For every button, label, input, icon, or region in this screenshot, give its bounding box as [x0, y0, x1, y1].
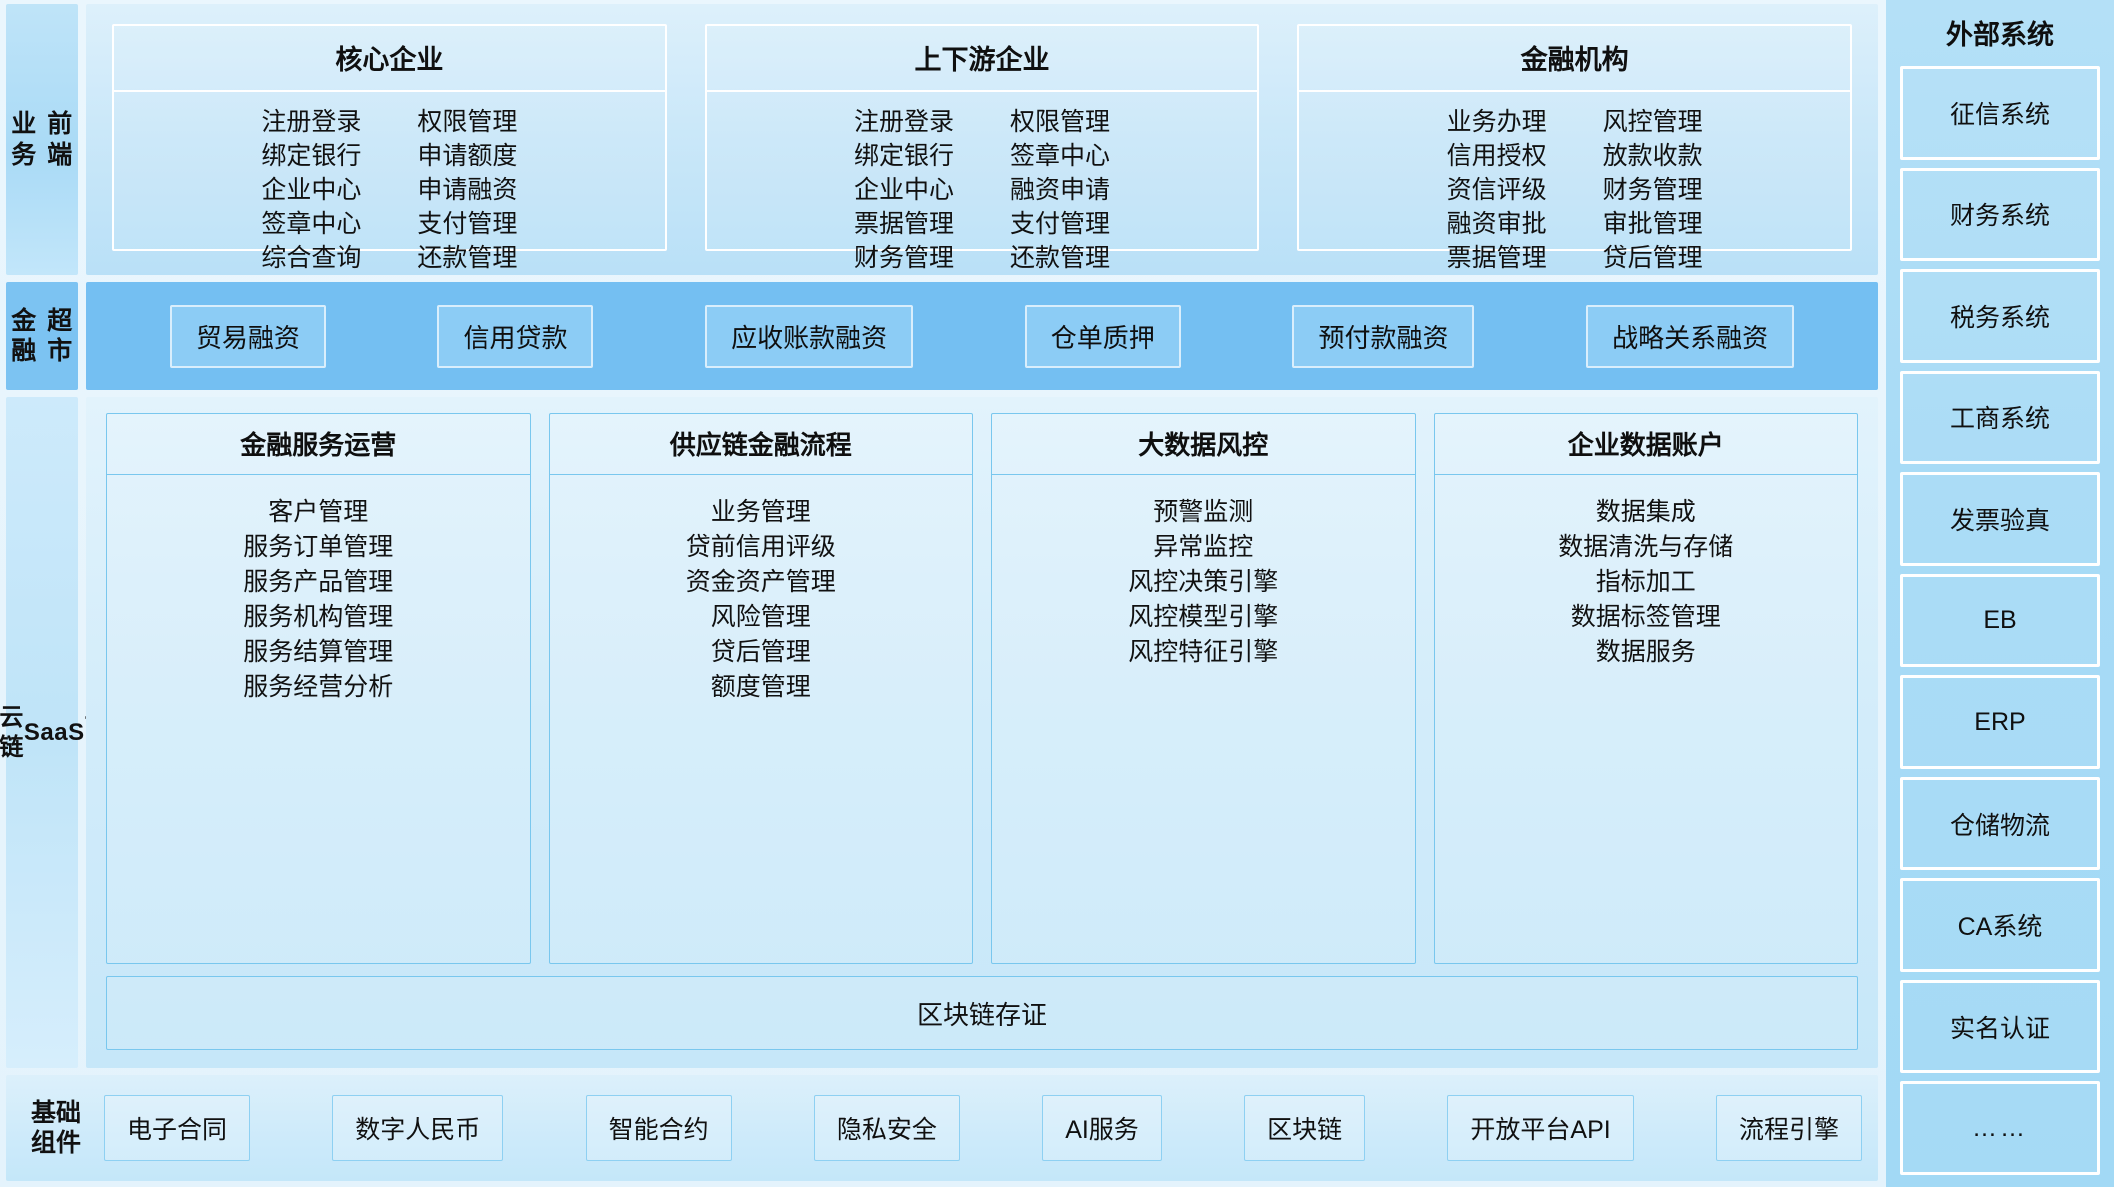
front-card-title: 上下游企业	[707, 26, 1258, 92]
feature-item: 服务产品管理	[243, 565, 393, 599]
feature-item: 贷后管理	[711, 635, 811, 669]
front-card-title: 核心企业	[114, 26, 665, 92]
front-card-body: 业务办理信用授权资信评级融资审批票据管理 风控管理放款收款财务管理审批管理贷后管…	[1299, 92, 1850, 285]
label-line: 超市	[42, 306, 78, 367]
market-chip[interactable]: 战略关系融资	[1586, 305, 1794, 368]
feature-item: 还款管理	[417, 242, 517, 275]
feature-item: 业务管理	[711, 495, 811, 529]
feature-item: 放款收款	[1603, 140, 1703, 173]
base-component-chip[interactable]: 智能合约	[586, 1095, 732, 1161]
feature-item: 风控决策引擎	[1128, 565, 1278, 599]
external-system-item[interactable]: 工商系统	[1900, 371, 2100, 465]
market-chip[interactable]: 仓单质押	[1025, 305, 1181, 368]
feature-item: 财务管理	[854, 242, 954, 275]
front-card-title: 金融机构	[1299, 26, 1850, 92]
base-component-chip[interactable]: AI服务	[1042, 1095, 1162, 1161]
band-body-base-components: 基础组件 电子合同数字人民币智能合约隐私安全AI服务区块链开放平台API流程引擎	[6, 1075, 1878, 1181]
saas-card-big-data-risk-control[interactable]: 大数据风控 预警监测异常监控风控决策引擎风控模型引擎风控特征引擎	[991, 413, 1416, 964]
feature-item: 服务订单管理	[243, 530, 393, 564]
saas-card-title: 大数据风控	[992, 414, 1415, 475]
feature-item: 申请融资	[417, 174, 517, 207]
external-system-item[interactable]: 仓储物流	[1900, 777, 2100, 871]
feature-item: 预警监测	[1153, 495, 1253, 529]
feature-item: 信用授权	[1447, 140, 1547, 173]
saas-card-body: 业务管理贷前信用评级资金资产管理风险管理贷后管理额度管理	[550, 475, 973, 963]
front-card-column-2: 风控管理放款收款财务管理审批管理贷后管理	[1603, 106, 1703, 275]
external-systems-list: 征信系统财务系统税务系统工商系统发票验真EBERP仓储物流CA系统实名认证……	[1900, 66, 2100, 1175]
feature-item: 票据管理	[1447, 242, 1547, 275]
external-system-item[interactable]: CA系统	[1900, 878, 2100, 972]
feature-item: 还款管理	[1010, 242, 1110, 275]
front-card-core-enterprise[interactable]: 核心企业 注册登录绑定银行企业中心签章中心综合查询 权限管理申请额度申请融资支付…	[112, 24, 667, 251]
market-chip[interactable]: 贸易融资	[170, 305, 326, 368]
base-component-chip[interactable]: 流程引擎	[1716, 1095, 1862, 1161]
feature-item: 数据集成	[1596, 495, 1696, 529]
label-line: 云链	[0, 703, 24, 762]
saas-card-title: 供应链金融流程	[550, 414, 973, 475]
feature-item: 数据服务	[1596, 635, 1696, 669]
feature-item: 贷前信用评级	[686, 530, 836, 564]
feature-item: 贷后管理	[1603, 242, 1703, 275]
front-card-column-1: 业务办理信用授权资信评级融资审批票据管理	[1447, 106, 1547, 275]
feature-item: 签章中心	[1010, 140, 1110, 173]
external-systems-title: 外部系统	[1946, 8, 2054, 58]
front-card-column-2: 权限管理签章中心融资申请支付管理还款管理	[1010, 106, 1110, 275]
feature-item: 支付管理	[417, 208, 517, 241]
base-component-chip[interactable]: 电子合同	[104, 1095, 250, 1161]
feature-item: 服务机构管理	[243, 600, 393, 634]
feature-item: 额度管理	[711, 670, 811, 704]
external-system-item[interactable]: ERP	[1900, 675, 2100, 769]
external-system-item[interactable]: 实名认证	[1900, 980, 2100, 1074]
label-line: 组件	[28, 1128, 84, 1158]
feature-item: 权限管理	[1010, 106, 1110, 139]
feature-item: 风险管理	[711, 600, 811, 634]
feature-item: 资信评级	[1447, 174, 1547, 207]
feature-item: 注册登录	[854, 106, 954, 139]
base-component-chip[interactable]: 开放平台API	[1447, 1095, 1633, 1161]
market-chip[interactable]: 应收账款融资	[705, 305, 913, 368]
feature-item: 企业中心	[854, 174, 954, 207]
front-card-body: 注册登录绑定银行企业中心票据管理财务管理 权限管理签章中心融资申请支付管理还款管…	[707, 92, 1258, 285]
feature-item: 风控特征引擎	[1128, 635, 1278, 669]
label-line: 前端	[42, 109, 78, 170]
base-component-chip[interactable]: 数字人民币	[332, 1095, 503, 1161]
front-card-column-1: 注册登录绑定银行企业中心票据管理财务管理	[854, 106, 954, 275]
saas-card-supply-chain-finance-process[interactable]: 供应链金融流程 业务管理贷前信用评级资金资产管理风险管理贷后管理额度管理	[549, 413, 974, 964]
front-card-column-2: 权限管理申请额度申请融资支付管理还款管理	[417, 106, 517, 275]
saas-card-enterprise-data-account[interactable]: 企业数据账户 数据集成数据清洗与存储指标加工数据标签管理数据服务	[1434, 413, 1859, 964]
feature-item: 资金资产管理	[686, 565, 836, 599]
external-system-item[interactable]: ……	[1900, 1081, 2100, 1175]
feature-item: 融资审批	[1447, 208, 1547, 241]
market-chip[interactable]: 预付款融资	[1292, 305, 1474, 368]
band-saas-platform: 神州云链SaaS平台 金融服务运营 客户管理服务订单管理服务产品管理服务机构管理…	[6, 397, 1878, 1068]
saas-card-body: 客户管理服务订单管理服务产品管理服务机构管理服务结算管理服务经营分析	[107, 475, 530, 963]
base-component-chip[interactable]: 隐私安全	[814, 1095, 960, 1161]
feature-item: 注册登录	[261, 106, 361, 139]
label-line: 业务	[6, 109, 42, 170]
base-component-chip[interactable]: 区块链	[1244, 1095, 1365, 1161]
architecture-diagram: 业务前端 核心企业 注册登录绑定银行企业中心签章中心综合查询 权限管理申请额度申…	[0, 0, 2114, 1187]
feature-item: 绑定银行	[261, 140, 361, 173]
feature-item: 综合查询	[261, 242, 361, 275]
band-label-financial-supermarket: 金融超市	[6, 282, 78, 390]
band-label-business-frontend: 业务前端	[6, 4, 78, 275]
saas-card-body: 预警监测异常监控风控决策引擎风控模型引擎风控特征引擎	[992, 475, 1415, 963]
label-line: 金融	[6, 306, 42, 367]
saas-card-title: 企业数据账户	[1435, 414, 1858, 475]
saas-card-title: 金融服务运营	[107, 414, 530, 475]
main-column: 业务前端 核心企业 注册登录绑定银行企业中心签章中心综合查询 权限管理申请额度申…	[0, 0, 1886, 1187]
band-financial-supermarket: 金融超市 贸易融资信用贷款应收账款融资仓单质押预付款融资战略关系融资	[6, 282, 1878, 390]
label-line: 基础	[28, 1098, 84, 1128]
blockchain-evidence-bar[interactable]: 区块链存证	[106, 976, 1858, 1050]
band-body-financial-supermarket: 贸易融资信用贷款应收账款融资仓单质押预付款融资战略关系融资	[86, 282, 1878, 390]
external-system-item[interactable]: 征信系统	[1900, 66, 2100, 160]
feature-item: 权限管理	[417, 106, 517, 139]
feature-item: 签章中心	[261, 208, 361, 241]
feature-item: 审批管理	[1603, 208, 1703, 241]
external-system-item[interactable]: EB	[1900, 574, 2100, 668]
band-label-saas-platform: 神州云链SaaS平台	[6, 397, 78, 1068]
base-components-label: 基础组件	[28, 1098, 84, 1158]
band-body-business-frontend: 核心企业 注册登录绑定银行企业中心签章中心综合查询 权限管理申请额度申请融资支付…	[86, 4, 1878, 275]
feature-item: 客户管理	[268, 495, 368, 529]
front-card-financial-institution[interactable]: 金融机构 业务办理信用授权资信评级融资审批票据管理 风控管理放款收款财务管理审批…	[1297, 24, 1852, 251]
front-card-column-1: 注册登录绑定银行企业中心签章中心综合查询	[261, 106, 361, 275]
feature-item: 风控模型引擎	[1128, 600, 1278, 634]
saas-card-financial-service-operation[interactable]: 金融服务运营 客户管理服务订单管理服务产品管理服务机构管理服务结算管理服务经营分…	[106, 413, 531, 964]
feature-item: 异常监控	[1153, 530, 1253, 564]
band-base-components: 基础组件 电子合同数字人民币智能合约隐私安全AI服务区块链开放平台API流程引擎	[6, 1075, 1878, 1181]
band-business-frontend: 业务前端 核心企业 注册登录绑定银行企业中心签章中心综合查询 权限管理申请额度申…	[6, 4, 1878, 275]
external-system-item[interactable]: 发票验真	[1900, 472, 2100, 566]
feature-item: 申请额度	[417, 140, 517, 173]
base-components-chip-list: 电子合同数字人民币智能合约隐私安全AI服务区块链开放平台API流程引擎	[104, 1095, 1862, 1161]
external-system-item[interactable]: 财务系统	[1900, 168, 2100, 262]
feature-item: 服务结算管理	[243, 635, 393, 669]
saas-card-row: 金融服务运营 客户管理服务订单管理服务产品管理服务机构管理服务结算管理服务经营分…	[106, 413, 1858, 964]
feature-item: 服务经营分析	[243, 670, 393, 704]
feature-item: 融资申请	[1010, 174, 1110, 207]
front-card-body: 注册登录绑定银行企业中心签章中心综合查询 权限管理申请额度申请融资支付管理还款管…	[114, 92, 665, 285]
feature-item: 财务管理	[1603, 174, 1703, 207]
label-line: SaaS	[24, 718, 85, 747]
feature-item: 数据标签管理	[1571, 600, 1721, 634]
band-body-saas-platform: 金融服务运营 客户管理服务订单管理服务产品管理服务机构管理服务结算管理服务经营分…	[86, 397, 1878, 1068]
external-systems-panel: 外部系统 征信系统财务系统税务系统工商系统发票验真EBERP仓储物流CA系统实名…	[1886, 0, 2114, 1187]
feature-item: 风控管理	[1603, 106, 1703, 139]
feature-item: 绑定银行	[854, 140, 954, 173]
feature-item: 支付管理	[1010, 208, 1110, 241]
saas-card-body: 数据集成数据清洗与存储指标加工数据标签管理数据服务	[1435, 475, 1858, 963]
feature-item: 数据清洗与存储	[1558, 530, 1733, 564]
feature-item: 企业中心	[261, 174, 361, 207]
external-system-item[interactable]: 税务系统	[1900, 269, 2100, 363]
front-card-upstream-downstream-enterprise[interactable]: 上下游企业 注册登录绑定银行企业中心票据管理财务管理 权限管理签章中心融资申请支…	[705, 24, 1260, 251]
market-chip[interactable]: 信用贷款	[437, 305, 593, 368]
feature-item: 业务办理	[1447, 106, 1547, 139]
feature-item: 票据管理	[854, 208, 954, 241]
feature-item: 指标加工	[1596, 565, 1696, 599]
